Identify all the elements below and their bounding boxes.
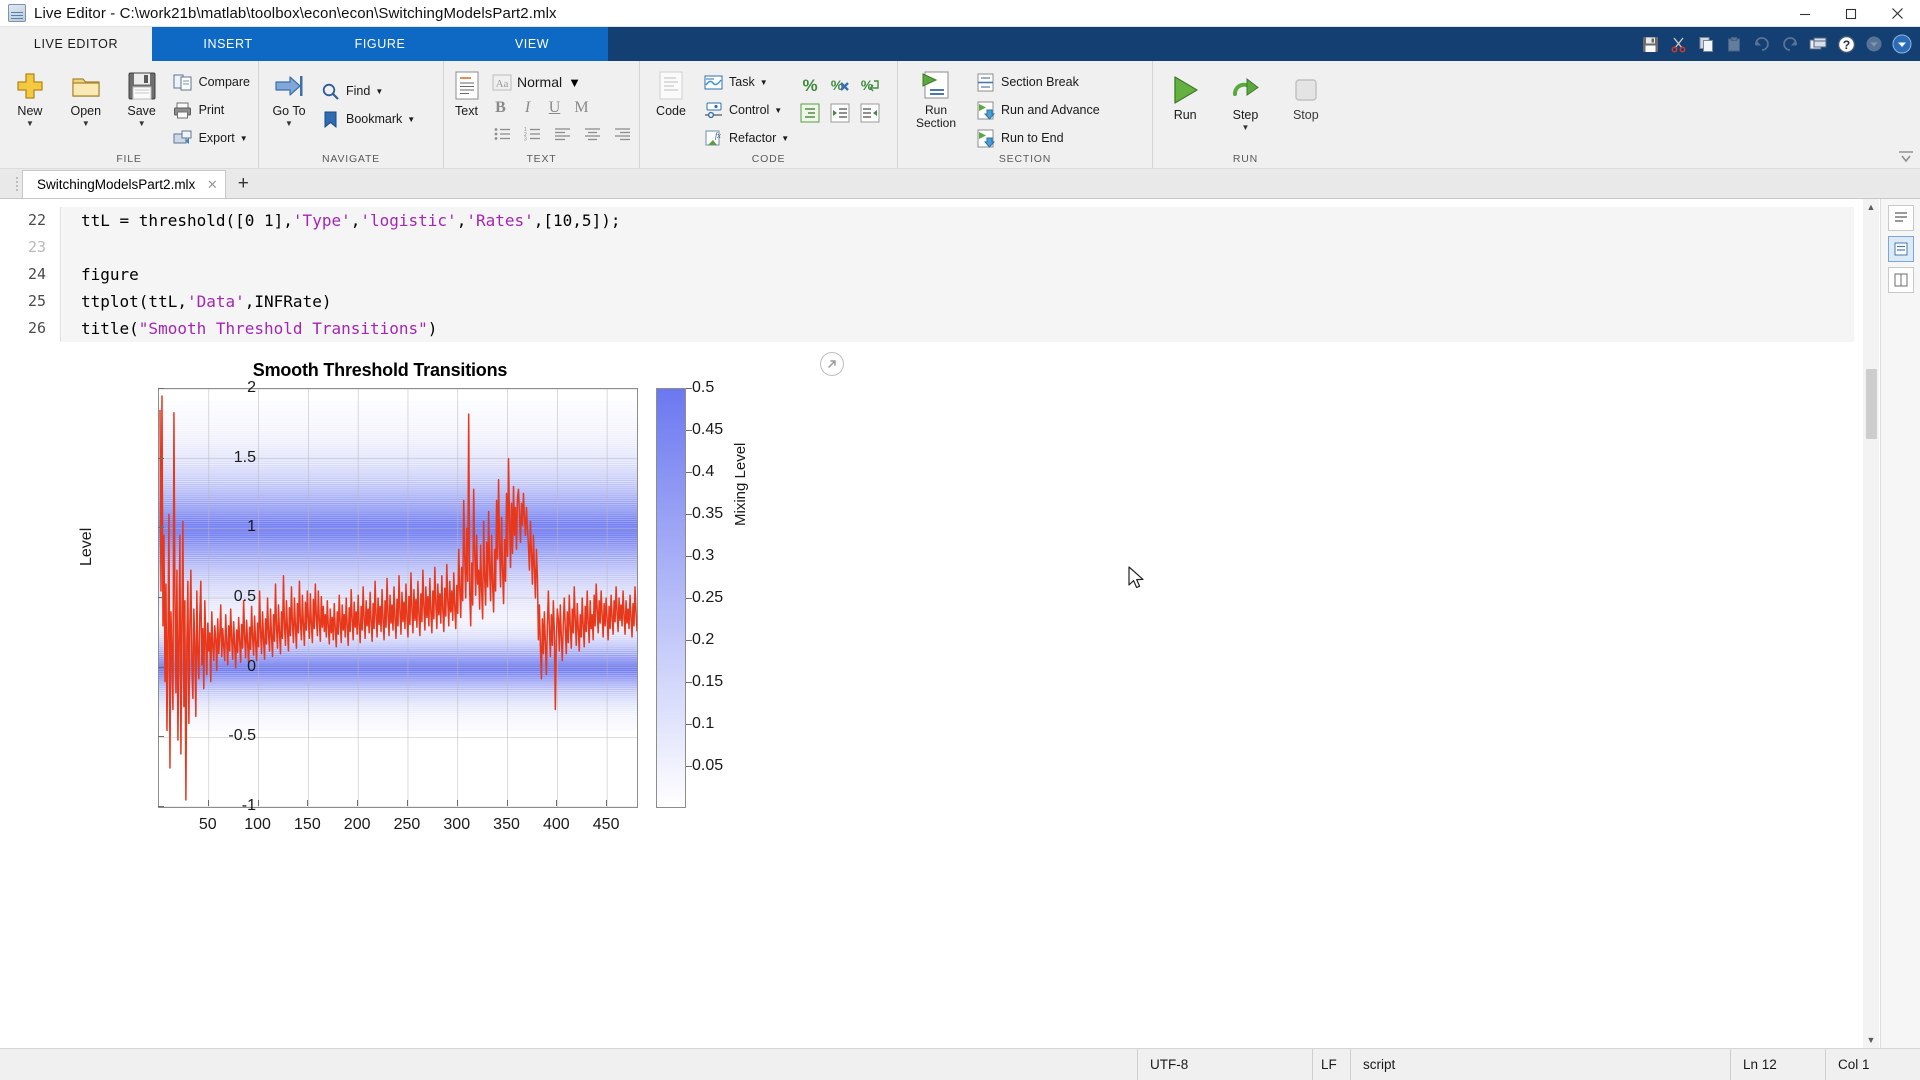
align-right-icon[interactable] (607, 120, 637, 148)
ribbon-group-file: New ▼ Open ▼ Save ▼ (0, 61, 258, 168)
text-format-row: B I U M (487, 95, 637, 121)
title-bar: Live Editor - C:\work21b\matlab\toolbox\… (0, 0, 1920, 27)
open-button[interactable]: Open ▼ (58, 67, 114, 128)
quick-access-toolbar: ? (1636, 27, 1920, 61)
run-to-end-icon (974, 127, 996, 149)
code-line-24[interactable]: figure (81, 261, 1854, 288)
colorbar-tick-label: 0.1 (692, 715, 714, 733)
print-label: Print (199, 103, 225, 117)
ribbon-group-text: Text Aa Normal ▼ B I U M (443, 61, 639, 168)
line-number: 22 (0, 207, 60, 234)
section-break-label: Section Break (1001, 75, 1079, 89)
y-tick-mark (158, 388, 164, 389)
export-icon (172, 127, 194, 149)
chart-title: Smooth Threshold Transitions (170, 360, 590, 381)
status-column: Col 1 (1825, 1049, 1920, 1080)
colorbar-tick-mark (686, 472, 692, 473)
rail-item-outline[interactable] (1888, 205, 1914, 231)
colorbar-tick-label: 0.45 (692, 421, 723, 439)
task-icon (702, 71, 724, 93)
x-tick-mark (556, 800, 557, 806)
svg-text:?: ? (1842, 38, 1849, 52)
copy-icon[interactable] (1693, 31, 1719, 57)
y-tick-label: 2 (196, 379, 256, 397)
line-number: 25 (0, 288, 60, 315)
bold-button[interactable]: B (487, 96, 514, 120)
increase-indent-icon[interactable] (825, 99, 855, 127)
colorbar-tick-label: 0.2 (692, 631, 714, 649)
save-icon[interactable] (1637, 31, 1663, 57)
colorbar-tick-label: 0.3 (692, 547, 714, 565)
colorbar-tick-label: 0.5 (692, 379, 714, 397)
status-line-ending[interactable]: LF (1312, 1049, 1350, 1080)
y-tick-label: 1.5 (196, 449, 256, 467)
refactor-button[interactable]: fx Refactor ▼ (700, 124, 795, 152)
x-tick-mark (258, 800, 259, 806)
paragraph-style-value[interactable]: Normal (517, 74, 562, 90)
compare-icon (172, 71, 194, 93)
y-tick-label: -1 (196, 797, 256, 815)
x-tick-mark (307, 800, 308, 806)
code-line-23[interactable] (81, 234, 1854, 261)
ribbon: New ▼ Open ▼ Save ▼ (0, 61, 1920, 169)
ribbon-group-navigate: Go To ▼ Find ▼ Bookmark ▼ (258, 61, 443, 168)
new-file-icon (14, 69, 46, 103)
run-button[interactable]: Run (1155, 71, 1215, 122)
chevron-down-icon[interactable]: ▼ (240, 134, 248, 143)
svg-text:3: 3 (524, 137, 527, 142)
y-tick-label: 1 (196, 518, 256, 536)
y-tick-label: -0.5 (196, 727, 256, 745)
scrollbar-thumb[interactable] (1866, 369, 1877, 439)
run-and-advance-icon (974, 99, 996, 121)
underline-button[interactable]: U (541, 96, 568, 120)
code-token: ttL = threshold([0 1], (81, 211, 293, 230)
colorbar-tick-mark (686, 640, 692, 641)
editor-content: ttL = threshold([0 1],'Type','logistic',… (60, 199, 1920, 1048)
matlab-app-icon (8, 4, 26, 22)
code-token-string: 'Rates' (466, 211, 533, 230)
ribbon-collapse-icon[interactable] (1898, 150, 1914, 164)
y-tick-mark (158, 527, 164, 528)
code-token: ) (428, 319, 438, 338)
code-label: Code (656, 104, 686, 118)
colorbar (656, 388, 686, 808)
colorbar-tick-label: 0.05 (692, 757, 723, 775)
code-line-26[interactable]: title("Smooth Threshold Transitions") (81, 315, 1854, 342)
smart-indent-icon[interactable] (795, 99, 825, 127)
document-tab-label: SwitchingModelsPart2.mlx (37, 177, 195, 192)
export-button[interactable]: Export ▼ (170, 124, 256, 152)
svg-text:%: % (803, 76, 818, 95)
search-icon (319, 80, 341, 102)
step-button[interactable]: Step ▼ (1215, 71, 1275, 132)
compare-label: Compare (199, 75, 250, 89)
code-token: , (457, 211, 467, 230)
decrease-indent-icon[interactable] (855, 99, 885, 127)
ribbon-group-section: RunSection Section Break Run and Advance (897, 61, 1152, 168)
minimize-button[interactable] (1782, 0, 1828, 27)
more-icon (1861, 31, 1887, 57)
bookmark-icon (319, 108, 341, 130)
add-tab-button[interactable]: + (226, 170, 260, 198)
bookmark-label: Bookmark (346, 112, 402, 126)
status-message (0, 1049, 1137, 1080)
wrap-comment-icon[interactable]: % (855, 71, 885, 99)
print-icon (172, 99, 194, 121)
y-tick-mark (158, 736, 164, 737)
step-label: Step (1233, 108, 1259, 122)
monospace-button[interactable]: M (568, 96, 595, 120)
run-to-end-label: Run to End (1001, 131, 1064, 145)
svg-text:fx: fx (715, 131, 721, 140)
code-token: figure (81, 265, 139, 284)
open-label: Open (70, 104, 101, 118)
scroll-down-icon[interactable]: ▼ (1863, 1032, 1879, 1048)
tab-insert[interactable]: INSERT (152, 27, 304, 61)
colorbar-tick-mark (686, 766, 692, 767)
code-button[interactable]: Code (642, 67, 700, 118)
status-encoding[interactable]: UTF-8 (1137, 1049, 1312, 1080)
section-break-icon (974, 71, 996, 93)
scroll-up-icon[interactable]: ▲ (1863, 199, 1879, 215)
rail-item-contents[interactable] (1888, 236, 1914, 262)
y-tick-label: 0.5 (196, 588, 256, 606)
text-label: Text (455, 104, 478, 118)
line-number: 23 (0, 234, 60, 261)
layout-icon[interactable] (1805, 31, 1831, 57)
control-label: Control (729, 103, 769, 117)
window-title: Live Editor - C:\work21b\matlab\toolbox\… (34, 5, 557, 22)
editor-scrollbar[interactable]: ▲ ▼ (1863, 199, 1879, 1048)
go-to-button[interactable]: Go To ▼ (261, 67, 317, 128)
colorbar-tick-mark (686, 556, 692, 557)
task-label: Task (729, 75, 755, 89)
tab-strip-grip[interactable] (12, 170, 22, 198)
undo-icon (1749, 31, 1775, 57)
document-tab-strip: SwitchingModelsPart2.mlx ✕ + (0, 169, 1920, 199)
cut-icon[interactable] (1665, 31, 1691, 57)
line-number-gutter: 22 23 24 25 26 (0, 199, 60, 1048)
chevron-down-icon[interactable]: ▼ (781, 134, 789, 143)
colorbar-tick-label: 0.4 (692, 463, 714, 481)
document-tab-switchingmodelspart2[interactable]: SwitchingModelsPart2.mlx ✕ (22, 170, 226, 198)
chevron-down-icon[interactable]: ▼ (138, 119, 146, 128)
go-to-icon (273, 69, 305, 103)
x-tick-mark (407, 800, 408, 806)
colorbar-tick-mark (686, 598, 692, 599)
group-label-code: CODE (642, 153, 895, 168)
right-rail (1880, 199, 1920, 1048)
code-icon (657, 69, 685, 103)
control-icon (702, 99, 724, 121)
colorbar-tick-label: 0.15 (692, 673, 723, 691)
x-tick-mark (208, 800, 209, 806)
chevron-down-icon[interactable]: ▼ (774, 106, 782, 115)
find-label: Find (346, 84, 370, 98)
section-break-button[interactable]: Section Break (972, 68, 1106, 96)
window-controls (1782, 0, 1920, 27)
colorbar-tick-mark (686, 682, 692, 683)
uncomment-icon[interactable]: % (825, 71, 855, 99)
export-label: Export (199, 131, 235, 145)
chevron-down-icon[interactable]: ▼ (407, 115, 415, 124)
colorbar-tick-label: 0.25 (692, 589, 723, 607)
status-bar: UTF-8 LF script Ln 12 Col 1 (0, 1048, 1920, 1080)
colorbar-tick-label: 0.35 (692, 505, 723, 523)
x-tick-mark (357, 800, 358, 806)
list-align-row: 123 (487, 121, 637, 147)
go-to-label: Go To (272, 104, 305, 118)
colorbar-tick-mark (686, 724, 692, 725)
task-button[interactable]: Task ▼ (700, 68, 795, 96)
figure-output: Smooth Threshold Transitions -1-0.500.51… (60, 356, 1920, 916)
align-center-icon[interactable] (577, 120, 607, 148)
text-button[interactable]: Text (446, 67, 487, 118)
find-button[interactable]: Find ▼ (317, 77, 421, 105)
maximize-button[interactable] (1828, 0, 1874, 27)
step-icon (1228, 73, 1262, 107)
save-button[interactable]: Save ▼ (114, 67, 170, 128)
stop-icon (1291, 73, 1321, 107)
chevron-down-icon[interactable]: ▼ (82, 119, 90, 128)
code-token: ttplot(ttL, (81, 292, 187, 311)
code-token: , (351, 211, 361, 230)
colorbar-tick-mark (686, 430, 692, 431)
chevron-down-icon[interactable]: ▼ (1242, 123, 1250, 132)
help-icon[interactable]: ? (1833, 31, 1859, 57)
x-tick-mark (457, 800, 458, 806)
x-tick-label: 450 (576, 816, 636, 834)
y-tick-mark (158, 806, 164, 807)
new-label: New (17, 104, 42, 118)
close-icon[interactable]: ✕ (205, 177, 219, 193)
new-button[interactable]: New ▼ (2, 67, 58, 128)
y-tick-mark (158, 458, 164, 459)
italic-button[interactable]: I (514, 96, 541, 120)
code-line-22[interactable]: ttL = threshold([0 1],'Type','logistic',… (81, 207, 1854, 234)
colorbar-tick-mark (686, 514, 692, 515)
ribbon-filler (1338, 61, 1920, 168)
tab-view[interactable]: VIEW (456, 27, 608, 61)
ribbon-group-run: Run Step ▼ Stop RUN (1152, 61, 1338, 168)
chevron-down-icon[interactable]: ▼ (285, 119, 293, 128)
y-tick-mark (158, 667, 164, 668)
editor-area: 22 23 24 25 26 ttL = threshold([0 1],'Ty… (0, 199, 1920, 1048)
code-token-string: "Smooth Threshold Transitions" (139, 319, 428, 338)
code-line-25[interactable]: ttplot(ttL,'Data',INFRate) (81, 288, 1854, 315)
svg-text:Aa: Aa (496, 78, 509, 90)
group-label-navigate: NAVIGATE (261, 153, 441, 168)
chart-smooth-threshold-transitions: Smooth Threshold Transitions -1-0.500.51… (60, 356, 840, 916)
y-axis-label: Level (78, 528, 96, 566)
chevron-down-icon[interactable]: ▼ (26, 119, 34, 128)
comment-icon[interactable]: % (795, 71, 825, 99)
run-label: Run (1174, 108, 1197, 122)
code-token: title( (81, 319, 139, 338)
x-tick-mark (606, 800, 607, 806)
x-tick-mark (507, 800, 508, 806)
group-label-section: SECTION (900, 153, 1150, 168)
paragraph-style-row: Aa Normal ▼ (487, 69, 637, 95)
status-line: Ln 12 (1730, 1049, 1825, 1080)
control-button[interactable]: Control ▼ (700, 96, 795, 124)
group-label-text: TEXT (446, 153, 637, 168)
open-folder-icon (70, 69, 102, 103)
code-token-string: 'logistic' (360, 211, 456, 230)
chevron-down-icon[interactable]: ▼ (375, 87, 383, 96)
refactor-icon: fx (702, 127, 724, 149)
numbered-list-icon[interactable]: 123 (517, 120, 547, 148)
code-token: ,INFRate) (245, 292, 332, 311)
y-tick-mark (158, 597, 164, 598)
stop-label: Stop (1293, 108, 1319, 122)
print-button[interactable]: Print (170, 96, 256, 124)
close-button[interactable] (1874, 0, 1920, 27)
code-token-string: 'Data' (187, 292, 245, 311)
group-label-file: FILE (2, 153, 256, 168)
bulleted-list-icon[interactable] (487, 120, 517, 148)
run-and-advance-button[interactable]: Run and Advance (972, 96, 1106, 124)
refactor-label: Refactor (729, 131, 776, 145)
compare-button[interactable]: Compare (170, 68, 256, 96)
ribbon-group-code: Code Task ▼ Control ▼ (639, 61, 897, 168)
chevron-down-icon[interactable]: ▼ (760, 78, 768, 87)
y-tick-label: 0 (196, 658, 256, 676)
redo-icon (1777, 31, 1803, 57)
code-token-string: 'Type' (293, 211, 351, 230)
colorbar-label: Mixing Level (732, 443, 749, 526)
run-to-end-button[interactable]: Run to End (972, 124, 1106, 152)
tab-figure[interactable]: FIGURE (304, 27, 456, 61)
code-block[interactable]: ttL = threshold([0 1],'Type','logistic',… (60, 207, 1854, 342)
run-icon (1168, 73, 1202, 107)
qat-dropdown-icon[interactable] (1889, 31, 1915, 57)
save-disk-icon (127, 69, 157, 103)
stop-button: Stop (1276, 71, 1336, 122)
chevron-down-icon[interactable]: ▼ (568, 75, 581, 90)
run-and-advance-label: Run and Advance (1001, 103, 1100, 117)
text-icon (453, 69, 481, 103)
font-style-icon: Aa (487, 68, 517, 96)
line-number: 26 (0, 315, 60, 342)
tab-live-editor[interactable]: LIVE EDITOR (0, 27, 152, 61)
line-number: 24 (0, 261, 60, 288)
run-section-button[interactable]: RunSection (900, 67, 972, 130)
run-section-icon (919, 69, 953, 103)
align-left-icon[interactable] (547, 120, 577, 148)
group-label-run: RUN (1155, 153, 1336, 168)
code-token: ,[10,5]); (534, 211, 621, 230)
status-file-type[interactable]: script (1350, 1049, 1730, 1080)
paste-icon (1721, 31, 1747, 57)
save-label: Save (127, 104, 156, 118)
colorbar-tick-mark (686, 388, 692, 389)
ribbon-tab-bar: LIVE EDITOR INSERT FIGURE VIEW ? (0, 27, 1920, 61)
bookmark-button[interactable]: Bookmark ▼ (317, 105, 421, 133)
rail-item-properties[interactable] (1888, 267, 1914, 293)
